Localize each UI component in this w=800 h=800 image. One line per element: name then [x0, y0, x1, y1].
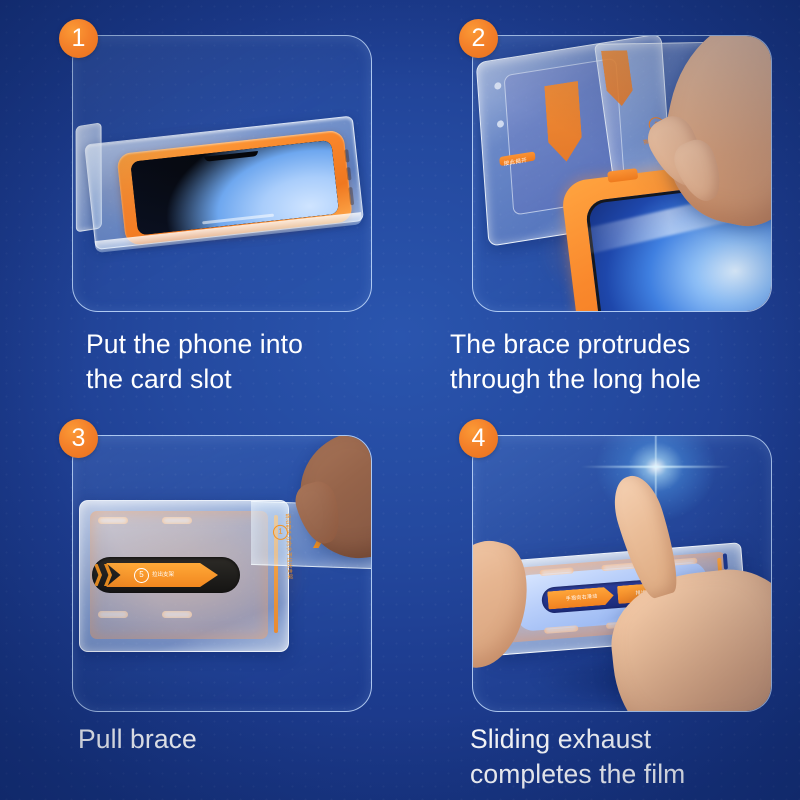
step-1-image-panel [72, 35, 372, 312]
step-3-illustration: 5 拉出支架 1 请沿箭 [73, 436, 371, 711]
installation-steps-infographic: 1 Put the phone into the card slot 按此揭开 [0, 0, 800, 800]
alignment-pad-2 [162, 517, 192, 524]
slot-instruction-text: 拉出支架 [152, 570, 174, 578]
alignment-pad-4 [162, 611, 192, 618]
exhaust-button-left-label: 手指向右滑动 [565, 588, 598, 608]
step-number-badge-4: 4 [459, 419, 498, 458]
film-down-arrow-icon [601, 50, 635, 106]
step-4-illustration: 手指向右滑动 排出气泡 [473, 436, 771, 711]
strip-instruction-text-1: 请沿箭头方向水平拉出支架 [283, 513, 293, 579]
step-number-badge-3: 3 [59, 419, 98, 458]
chevron-icon-1 [94, 564, 102, 586]
step-4-image-panel: 手指向右滑动 排出气泡 [472, 435, 772, 712]
step-number-badge-2: 2 [459, 19, 498, 58]
step-caption-3: Pull brace [78, 722, 388, 757]
steps-grid: 1 Put the phone into the card slot 按此揭开 [0, 0, 800, 800]
slot-step-marker: 5 [134, 568, 149, 583]
step-caption-1: Put the phone into the card slot [86, 327, 396, 397]
case-corner-marker [723, 553, 728, 569]
step-caption-4: Sliding exhaust completes the film [470, 722, 780, 792]
alignment-pad-3 [98, 611, 128, 618]
brace-protrusion [607, 168, 638, 183]
step-card-3: 5 拉出支架 1 请沿箭 [0, 400, 400, 800]
phone-volume-up-button [344, 149, 349, 162]
step-card-1: 1 Put the phone into the card slot [0, 0, 400, 400]
lid-hinge-pin-2 [497, 120, 504, 128]
step-card-4: 手指向右滑动 排出气泡 [400, 400, 800, 800]
chevron-icon-2 [104, 564, 112, 586]
brace-slot: 5 拉出支架 [92, 557, 240, 593]
lid-down-arrow-icon [544, 81, 583, 164]
step-number-badge-1: 1 [59, 19, 98, 58]
step-2-image-panel: 按此揭开 3 撕开保护膜 [472, 35, 772, 312]
step-2-illustration: 按此揭开 3 撕开保护膜 [473, 36, 771, 311]
step-card-2: 按此揭开 3 撕开保护膜 [400, 0, 800, 400]
step-1-illustration [73, 36, 371, 311]
step-3-image-panel: 5 拉出支架 1 请沿箭 [72, 435, 372, 712]
phone-volume-down-button [346, 167, 351, 180]
alignment-pad-1 [98, 517, 128, 524]
instruction-tag-4 [544, 625, 578, 634]
step-caption-2: The brace protrudes through the long hol… [450, 327, 760, 397]
case-interior: 5 拉出支架 [90, 511, 268, 639]
lid-hinge-pin [494, 82, 501, 90]
phone-power-button [348, 187, 354, 205]
